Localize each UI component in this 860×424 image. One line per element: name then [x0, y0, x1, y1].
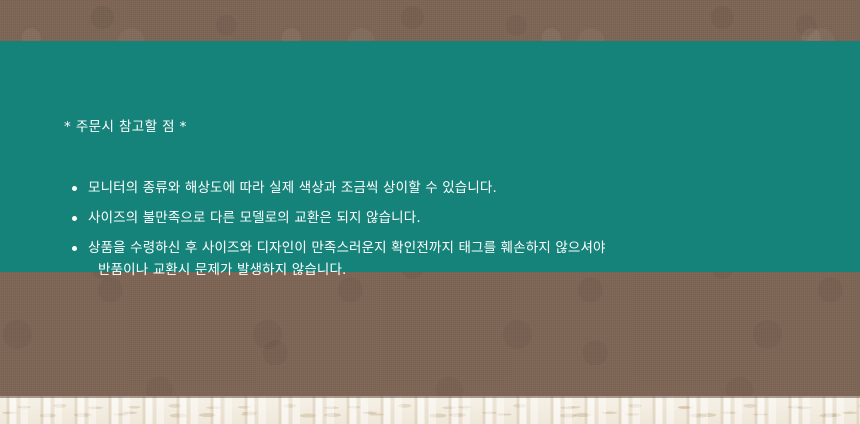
list-item: 사이즈의 불만족으로 다른 모델로의 교환은 되지 않습니다.	[64, 207, 824, 229]
cream-knit-fabric-strip	[0, 396, 860, 424]
list-item: 모니터의 종류와 해상도에 따라 실제 색상과 조금씩 상이할 수 있습니다.	[64, 177, 824, 199]
list-item-text: 상품을 수령하신 후 사이즈와 디자인이 만족스러운지 확인전까지 태그를 훼손…	[88, 237, 824, 259]
notice-list: 모니터의 종류와 해상도에 따라 실제 색상과 조금씩 상이할 수 있습니다. …	[64, 177, 824, 281]
order-notice-panel: * 주문시 참고할 점 * 모니터의 종류와 해상도에 따라 실제 색상과 조금…	[0, 41, 860, 272]
list-item: 상품을 수령하신 후 사이즈와 디자인이 만족스러운지 확인전까지 태그를 훼손…	[64, 237, 824, 281]
list-item-text-continued: 반품이나 교환시 문제가 발생하지 않습니다.	[88, 259, 824, 281]
bullet-dot-icon	[72, 186, 77, 191]
notice-heading: * 주문시 참고할 점 *	[64, 117, 187, 137]
bullet-dot-icon	[72, 216, 77, 221]
list-item-text: 사이즈의 불만족으로 다른 모델로의 교환은 되지 않습니다.	[88, 207, 824, 229]
bullet-dot-icon	[72, 246, 77, 251]
product-detail-notice-banner: * 주문시 참고할 점 * 모니터의 종류와 해상도에 따라 실제 색상과 조금…	[0, 0, 860, 424]
list-item-text: 모니터의 종류와 해상도에 따라 실제 색상과 조금씩 상이할 수 있습니다.	[88, 177, 824, 199]
